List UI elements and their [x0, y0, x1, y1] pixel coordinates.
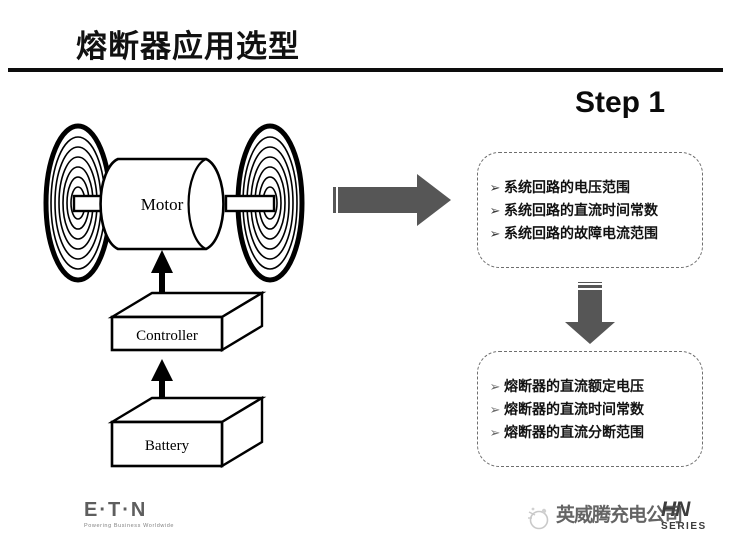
arrow-bullet-icon: ➢ — [486, 204, 504, 217]
controller-label: Controller — [136, 328, 198, 344]
axle-right — [226, 196, 274, 211]
requirement-list: ➢ 熔断器的直流额定电压 ➢ 熔断器的直流时间常数 ➢ 熔断器的直流分断范围 — [486, 373, 696, 445]
watermark-logo-icon — [524, 503, 554, 533]
list-item: ➢ 熔断器的直流时间常数 — [486, 399, 696, 419]
arrow-battery-to-controller — [151, 359, 173, 401]
step-label: Step 1 — [575, 86, 665, 120]
arrow-right — [325, 172, 455, 233]
slide-canvas: 熔断器应用选型 Step 1 — [0, 0, 731, 545]
eaton-tagline: Powering Business Worldwide — [84, 523, 204, 529]
arrow-controller-to-motor — [151, 250, 173, 295]
list-item: ➢ 熔断器的直流额定电压 — [486, 376, 696, 396]
page-title: 熔断器应用选型 — [76, 21, 300, 66]
watermark: HN SERIES 英威腾充电公司 — [524, 497, 729, 541]
arrow-bullet-icon: ➢ — [486, 181, 504, 194]
requirement-list: ➢ 系统回路的电压范围 ➢ 系统回路的直流时间常数 ➢ 系统回路的故障电流范围 — [486, 174, 696, 246]
eaton-logo: E·T·N Powering Business Worldwide — [84, 500, 204, 536]
arrow-bullet-icon: ➢ — [486, 403, 504, 416]
list-item: ➢ 系统回路的直流时间常数 — [486, 200, 696, 220]
list-item-label: 系统回路的电压范围 — [504, 177, 630, 197]
arrow-bullet-icon: ➢ — [486, 380, 504, 393]
list-item-label: 系统回路的直流时间常数 — [504, 200, 658, 220]
list-item-label: 熔断器的直流时间常数 — [504, 399, 644, 419]
list-item-label: 熔断器的直流额定电压 — [504, 376, 644, 396]
fuse-requirements-box: ➢ 熔断器的直流额定电压 ➢ 熔断器的直流时间常数 ➢ 熔断器的直流分断范围 — [477, 351, 703, 467]
arrow-bullet-icon: ➢ — [486, 426, 504, 439]
list-item-label: 熔断器的直流分断范围 — [504, 422, 644, 442]
system-circuit-requirements-box: ➢ 系统回路的电压范围 ➢ 系统回路的直流时间常数 ➢ 系统回路的故障电流范围 — [477, 152, 703, 268]
arrow-bullet-icon: ➢ — [486, 227, 504, 240]
arrow-down — [556, 278, 624, 351]
motor-label: Motor — [141, 195, 184, 214]
title-divider — [8, 68, 723, 72]
battery-label: Battery — [145, 438, 190, 454]
list-item: ➢ 系统回路的电压范围 — [486, 177, 696, 197]
watermark-text: 英威腾充电公司 — [556, 503, 682, 527]
list-item: ➢ 熔断器的直流分断范围 — [486, 422, 696, 442]
list-item-label: 系统回路的故障电流范围 — [504, 223, 658, 243]
list-item: ➢ 系统回路的故障电流范围 — [486, 223, 696, 243]
battery-box — [112, 398, 262, 466]
ev-powertrain-diagram: Motor Controller — [30, 95, 330, 485]
eaton-wordmark: E·T·N — [84, 500, 204, 520]
